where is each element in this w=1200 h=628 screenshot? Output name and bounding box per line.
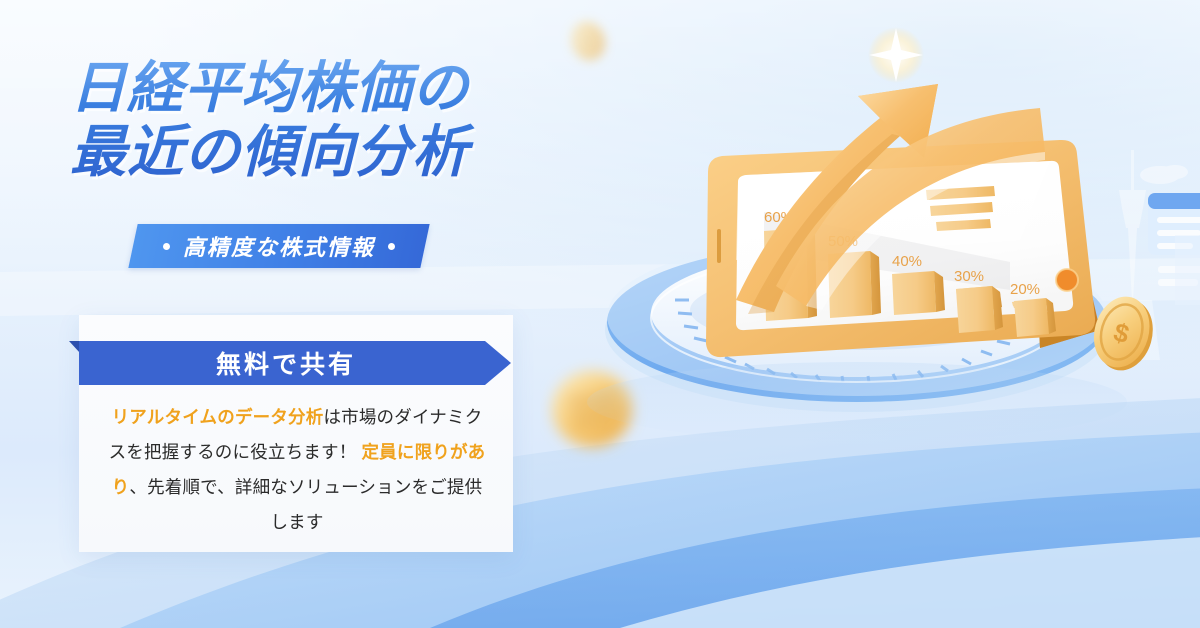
bar-label-2: 40% [892, 253, 922, 270]
speaker-line-icon [717, 229, 721, 263]
ribbon-body: 無料で共有 [79, 341, 511, 385]
subtitle-badge: 高精度な株式情報 [128, 224, 429, 268]
tablet-chart-illustration: 60% 50% 40% 30% 20% [540, 0, 1200, 628]
subtitle-badge-label: 高精度な株式情報 [183, 230, 375, 262]
hero-banner: 日経平均株価の 最近の傾向分析 高精度な株式情報 無料で共有 リアルタイムのデー… [0, 0, 1200, 628]
card-description-segment-3: 、先着順で、詳細なソリューションをご提供します [129, 477, 482, 532]
hero-illustration: 60% 50% 40% 30% 20% [540, 0, 1200, 628]
bullet-dot-right-icon [388, 243, 395, 250]
coin-top-small [565, 16, 611, 65]
bullet-dot-left-icon [163, 243, 170, 250]
bar-label-3: 30% [954, 268, 984, 285]
card-description: リアルタイムのデータ分析は市場のダイナミクスを把握するのに役立ちます！ 定員に限… [108, 400, 486, 540]
sparkle-star-icon [868, 27, 924, 83]
page-title-line1: 日経平均株価の [70, 56, 469, 119]
ribbon-label: 無料で共有 [216, 345, 356, 381]
card-description-segment-0: リアルタイムのデータ分析 [112, 407, 324, 427]
ribbon-banner: 無料で共有 [69, 341, 511, 385]
bar-label-4: 20% [1010, 281, 1040, 298]
ribbon-tail-icon [69, 341, 80, 353]
